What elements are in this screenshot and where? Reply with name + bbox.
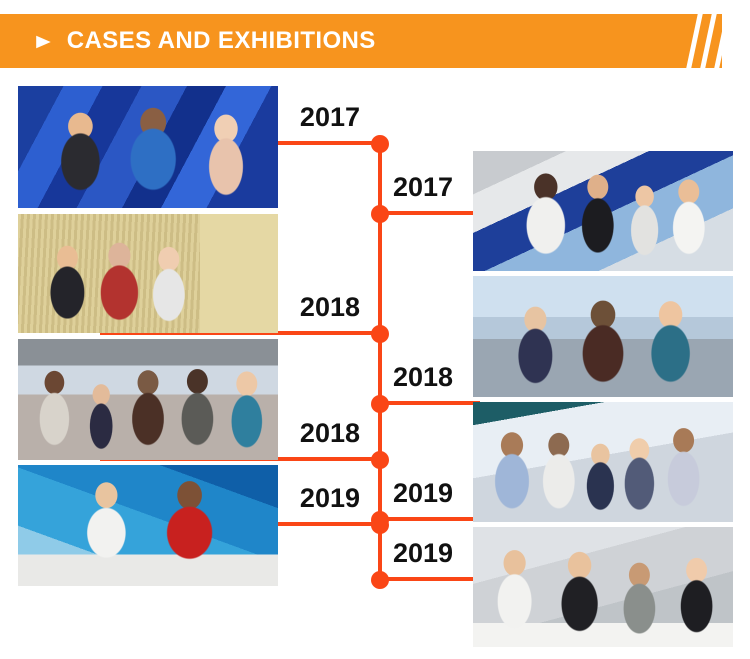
- play-triangle-icon: ►: [31, 31, 55, 52]
- photo-caption: Four people at outdoor exhibition booth …: [479, 260, 642, 267]
- exhibition-photo-left-2[interactable]: Three people in front of booth with hang…: [18, 214, 278, 333]
- photo-image: [473, 402, 733, 522]
- page-title: CASES AND EXHIBITIONS: [67, 27, 376, 55]
- timeline-year-5: 2018: [300, 420, 360, 447]
- timeline-arm-right-6: [380, 517, 480, 521]
- photo-image: [473, 151, 733, 271]
- exhibition-photo-right-4[interactable]: Four people seated at table with snack p…: [473, 527, 733, 647]
- timeline-arm-right-2: [380, 211, 480, 215]
- timeline-dot-5: [371, 451, 389, 469]
- timeline-dot-3: [371, 325, 389, 343]
- timeline-year-7: 2019: [300, 485, 360, 512]
- photo-caption: Five exhibition visitors posing at trade…: [24, 449, 178, 456]
- photo-caption: Four people seated at table with snack p…: [479, 636, 652, 643]
- exhibition-photo-right-2[interactable]: Three people in front of Jinan Zhuocheng…: [473, 276, 733, 397]
- section-header-bar: ► CASES AND EXHIBITIONS: [0, 14, 722, 68]
- timeline-year-1: 2017: [300, 104, 360, 131]
- header-slash-4: [727, 14, 747, 68]
- timeline-year-8: 2019: [393, 540, 453, 567]
- timeline-dot-4: [371, 395, 389, 413]
- header-title-group: ► CASES AND EXHIBITIONS: [33, 14, 376, 68]
- photo-image: [473, 276, 733, 397]
- photo-image: [473, 527, 733, 647]
- exhibition-photo-right-3[interactable]: Five visitors posing beside extruder mac…: [473, 402, 733, 522]
- timeline-arm-right-4: [380, 401, 480, 405]
- timeline-dot-7: [371, 516, 389, 534]
- exhibition-photo-left-4[interactable]: Sales meeting at table with two men and …: [18, 465, 278, 586]
- timeline-dot-8: [371, 571, 389, 589]
- timeline-dot-2: [371, 205, 389, 223]
- timeline-year-3: 2018: [300, 294, 360, 321]
- timeline-year-6: 2019: [393, 480, 453, 507]
- photo-image: [18, 86, 278, 208]
- timeline-year-4: 2018: [393, 364, 453, 391]
- photo-image: [18, 214, 278, 333]
- timeline-dot-1: [371, 135, 389, 153]
- photo-image: [18, 339, 278, 460]
- photo-caption: Five visitors posing beside extruder mac…: [479, 511, 659, 518]
- exhibition-photo-left-3[interactable]: Five exhibition visitors posing at trade…: [18, 339, 278, 460]
- timeline-year-2: 2017: [393, 174, 453, 201]
- photo-caption: Sales meeting at table with two men and …: [24, 575, 191, 582]
- photo-caption: Three people in front of booth with hang…: [24, 322, 201, 329]
- photo-caption: Three people in front of Jinan Zhuocheng…: [479, 386, 696, 393]
- exhibition-photo-left-1[interactable]: Three people at blue tent exhibition boo…: [18, 86, 278, 208]
- exhibition-photo-right-1[interactable]: Four people at outdoor exhibition booth …: [473, 151, 733, 271]
- photo-caption: Three people at blue tent exhibition boo…: [24, 197, 225, 204]
- photo-image: [18, 465, 278, 586]
- timeline-arm-right-8: [380, 577, 480, 581]
